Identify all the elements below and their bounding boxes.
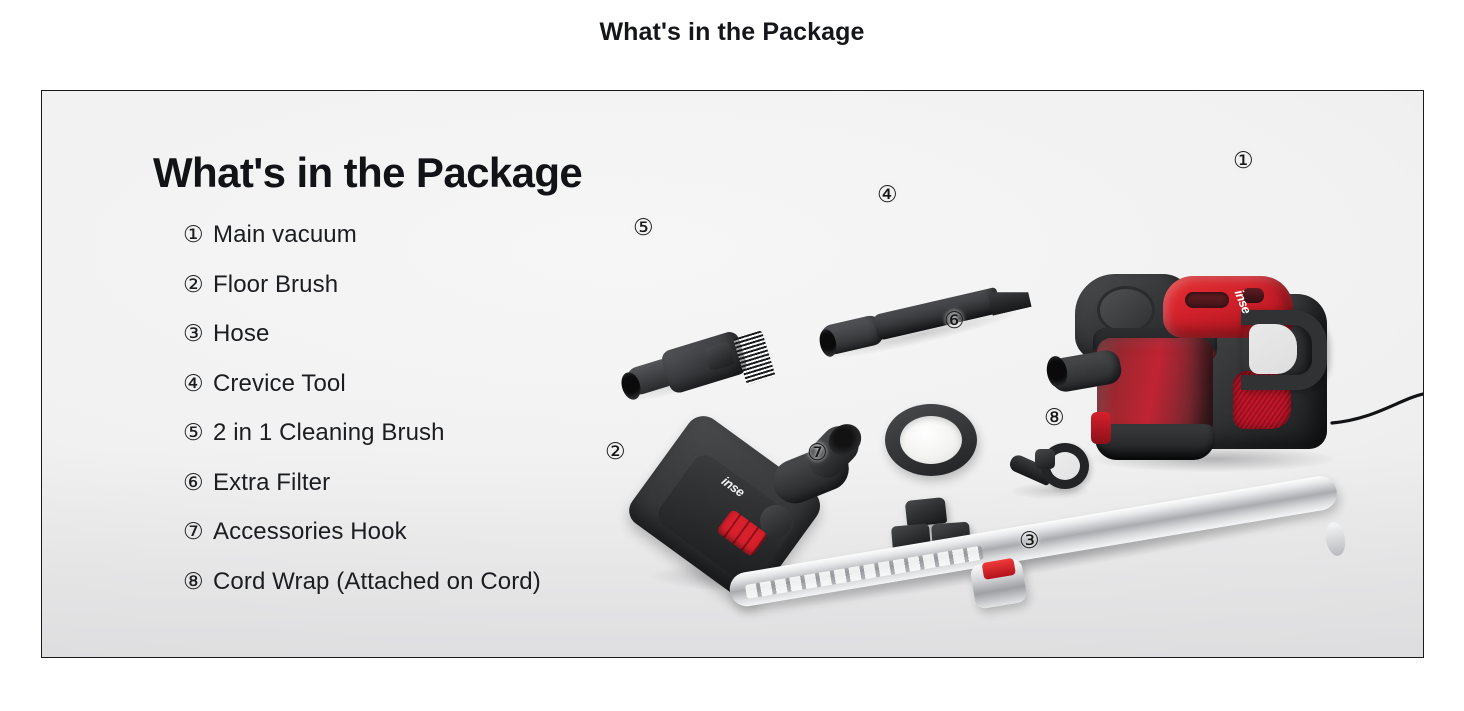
cord-wrap-image xyxy=(1007,443,1093,509)
item-number: ④ xyxy=(183,370,213,397)
hook-clip xyxy=(905,497,947,527)
panel-title: What's in the Package xyxy=(153,149,582,197)
list-item: ④ Crevice Tool xyxy=(183,370,541,420)
power-cord xyxy=(1332,379,1424,437)
list-item: ⑤ 2 in 1 Cleaning Brush xyxy=(183,419,541,469)
callout-marker-3: ③ xyxy=(1019,529,1040,552)
dust-cup-release-latch xyxy=(1091,412,1111,444)
item-number: ① xyxy=(183,221,213,248)
vacuum-motor-ring xyxy=(1097,286,1155,334)
item-number: ⑤ xyxy=(183,419,213,446)
callout-marker-8: ⑧ xyxy=(1044,406,1065,429)
list-item: ① Main vacuum xyxy=(183,221,541,271)
crevice-tool-image xyxy=(822,303,1032,373)
filter-foam xyxy=(900,416,962,464)
product-image-panel: What's in the Package ① Main vacuum ② Fl… xyxy=(41,90,1424,658)
item-label: 2 in 1 Cleaning Brush xyxy=(213,419,445,447)
list-item: ③ Hose xyxy=(183,320,541,370)
callout-marker-7: ⑦ xyxy=(807,441,828,464)
list-item: ⑧ Cord Wrap (Attached on Cord) xyxy=(183,568,541,618)
callout-marker-1: ① xyxy=(1233,149,1254,172)
item-label: Main vacuum xyxy=(213,221,357,249)
cord-wrap-knob xyxy=(1035,449,1055,469)
package-contents-page: What's in the Package What's in the Pack… xyxy=(0,0,1464,711)
two-in-one-cleaning-brush-image xyxy=(622,336,802,416)
callout-marker-4: ④ xyxy=(877,183,898,206)
brush-bristles xyxy=(733,330,776,385)
item-label: Hose xyxy=(213,320,269,348)
vacuum-grip-opening xyxy=(1249,324,1297,374)
item-label: Extra Filter xyxy=(213,469,330,497)
package-contents-list: ① Main vacuum ② Floor Brush ③ Hose ④ Cre… xyxy=(183,221,541,617)
page-title: What's in the Package xyxy=(0,18,1464,47)
callout-marker-2: ② xyxy=(605,440,626,463)
item-label: Floor Brush xyxy=(213,271,338,299)
item-number: ⑦ xyxy=(183,518,213,545)
extra-filter-image xyxy=(885,404,977,476)
item-label: Accessories Hook xyxy=(213,518,407,546)
item-number: ⑥ xyxy=(183,469,213,496)
callout-marker-5: ⑤ xyxy=(633,216,654,239)
list-item: ② Floor Brush xyxy=(183,271,541,321)
dust-cup-base xyxy=(1095,424,1215,460)
list-item: ⑥ Extra Filter xyxy=(183,469,541,519)
item-number: ② xyxy=(183,271,213,298)
item-number: ⑧ xyxy=(183,568,213,595)
item-label: Cord Wrap (Attached on Cord) xyxy=(213,568,541,596)
list-item: ⑦ Accessories Hook xyxy=(183,518,541,568)
item-number: ③ xyxy=(183,320,213,347)
item-label: Crevice Tool xyxy=(213,370,346,398)
power-button xyxy=(1185,292,1229,308)
callout-marker-6: ⑥ xyxy=(944,309,965,332)
